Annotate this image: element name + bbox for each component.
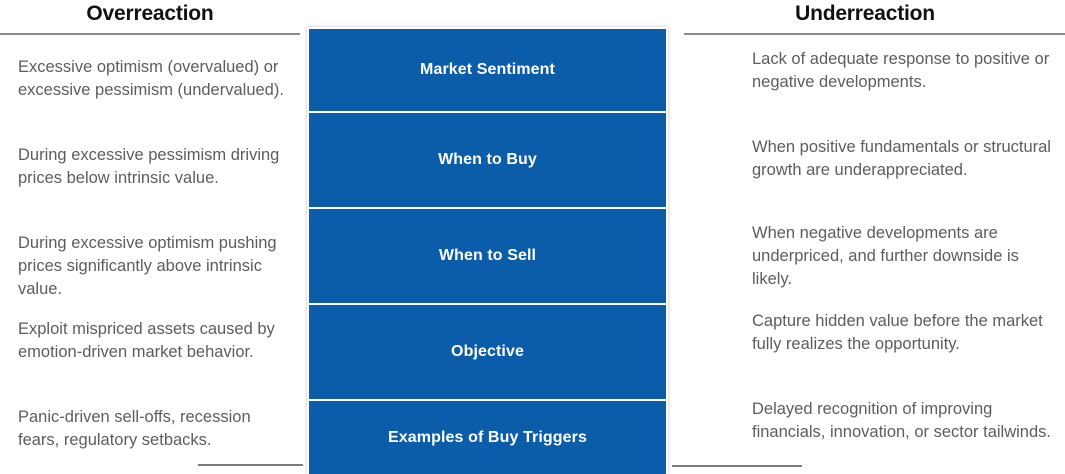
category-label-objective: Objective	[309, 305, 666, 401]
overreaction-cell-when-to-buy: During excessive pessimism driving price…	[18, 144, 290, 190]
overreaction-cell-objective: Exploit mispriced assets caused by emoti…	[18, 318, 290, 364]
column-title-underreaction: Underreaction	[700, 2, 1030, 26]
category-label-when-to-buy: When to Buy	[309, 113, 666, 209]
overreaction-cell-when-to-sell: During excessive optimism pushing prices…	[18, 232, 290, 301]
overreaction-cell-examples-of-buy-triggers: Panic-driven sell-offs, recession fears,…	[18, 406, 290, 452]
table-header-row: Overreaction Underreaction	[0, 0, 1065, 30]
category-label-when-to-sell: When to Sell	[309, 209, 666, 305]
underreaction-cell-when-to-sell: When negative developments are underpric…	[752, 222, 1052, 291]
underreaction-cell-examples-of-buy-triggers: Delayed recognition of improving financi…	[752, 398, 1052, 444]
header-rule-right	[684, 33, 1065, 35]
category-label-examples-of-buy-triggers: Examples of Buy Triggers	[309, 401, 666, 474]
category-label-market-sentiment: Market Sentiment	[309, 29, 666, 113]
bottom-rule-left	[198, 464, 303, 466]
underreaction-cell-objective: Capture hidden value before the market f…	[752, 310, 1052, 356]
category-column: Market Sentiment When to Buy When to Sel…	[307, 27, 668, 474]
underreaction-cell-market-sentiment: Lack of adequate response to positive or…	[752, 48, 1052, 94]
underreaction-cell-when-to-buy: When positive fundamentals or structural…	[752, 136, 1052, 182]
overreaction-cell-market-sentiment: Excessive optimism (overvalued) or exces…	[18, 56, 290, 102]
comparison-table: Overreaction Underreaction Excessive opt…	[0, 0, 1065, 474]
column-title-overreaction: Overreaction	[0, 2, 300, 26]
header-rule-left	[0, 33, 300, 35]
bottom-rule-right	[672, 465, 802, 467]
